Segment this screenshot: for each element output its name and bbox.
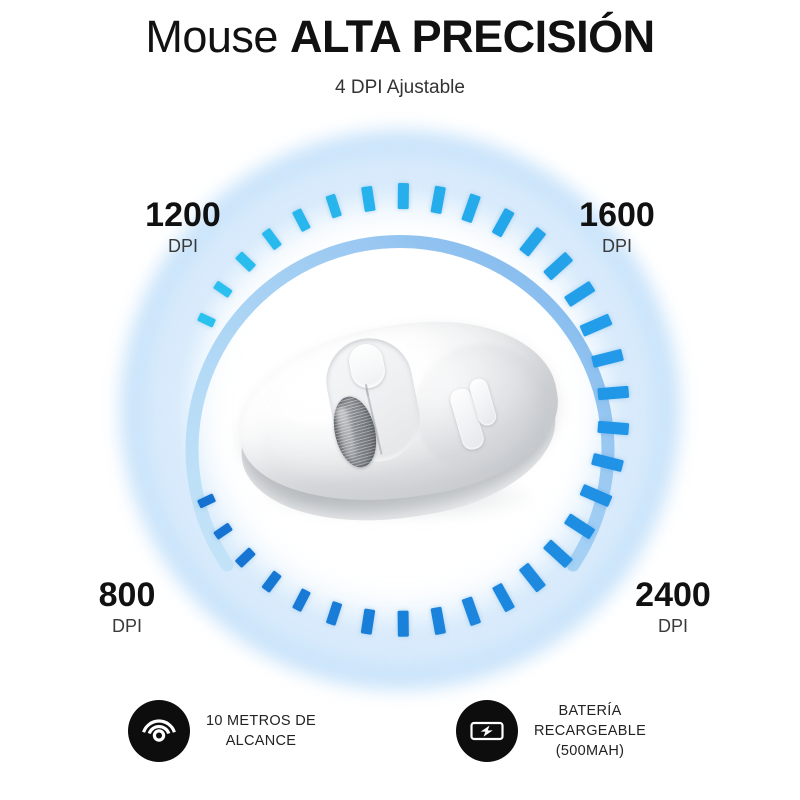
feature-label: 10 METROS DE ALCANCE <box>206 711 316 751</box>
title-bold-part: ALTA PRECISIÓN <box>290 11 655 62</box>
dpi-value: 800 <box>72 578 182 612</box>
wireless-signal-icon <box>128 700 190 762</box>
dpi-value: 1600 <box>562 198 672 232</box>
battery-charging-icon <box>456 700 518 762</box>
feature-label: BATERÍA RECARGEABLE (500MAH) <box>534 701 646 761</box>
dial-tick-mark <box>597 385 629 399</box>
dpi-label-1600: 1600 DPI <box>562 198 672 255</box>
dpi-value: 1200 <box>128 198 238 232</box>
feature-battery: BATERÍA RECARGEABLE (500MAH) <box>456 700 646 762</box>
dial-tick-mark <box>397 611 408 637</box>
dial-tick-mark <box>597 420 629 434</box>
dpi-label-1200: 1200 DPI <box>128 198 238 255</box>
dpi-value: 2400 <box>618 578 728 612</box>
dpi-unit: DPI <box>128 232 238 255</box>
dpi-unit: DPI <box>562 232 672 255</box>
feature-row: 10 METROS DE ALCANCE BATERÍA RECARGEABLE… <box>0 700 800 800</box>
feature-range: 10 METROS DE ALCANCE <box>128 700 316 762</box>
header: Mouse ALTA PRECISIÓN 4 DPI Ajustable <box>0 0 800 100</box>
dpi-unit: DPI <box>72 612 182 635</box>
page-title: Mouse ALTA PRECISIÓN <box>0 0 800 66</box>
dpi-unit: DPI <box>618 612 728 635</box>
dpi-label-800: 800 DPI <box>72 578 182 635</box>
dial-tick-mark <box>397 183 408 209</box>
page-subtitle: 4 DPI Ajustable <box>0 66 800 100</box>
product-image-mouse <box>218 292 578 552</box>
dpi-label-2400: 2400 DPI <box>618 578 728 635</box>
title-thin-part: Mouse <box>145 11 290 62</box>
